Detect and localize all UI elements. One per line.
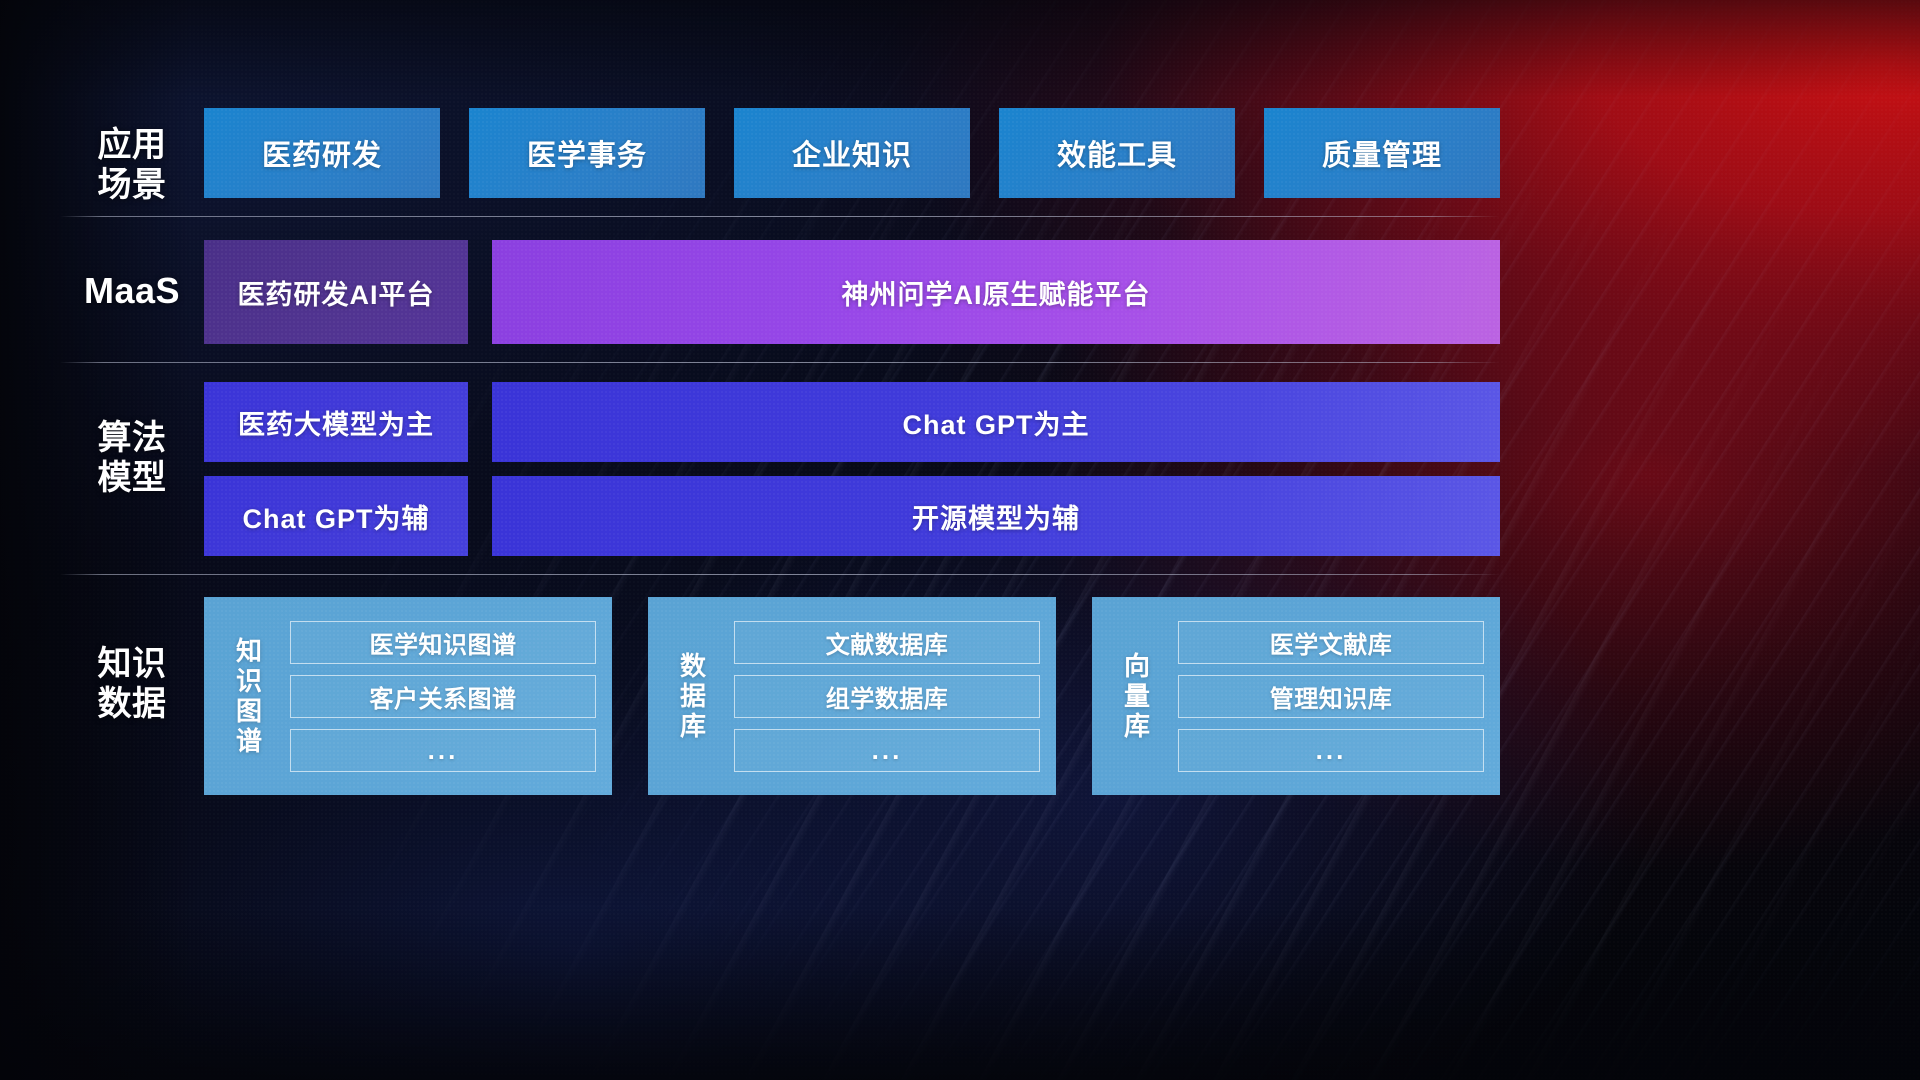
app-tile-label-2: 企业知识 xyxy=(792,132,912,174)
knowledge-group-items-1: 文献数据库 组学数据库 ... xyxy=(734,621,1040,772)
knowledge-group-side-label-1: 数 据 库 xyxy=(670,651,716,741)
divider-maas-algorithm xyxy=(60,362,1500,363)
knowledge-group-items-0: 医学知识图谱 客户关系图谱 ... xyxy=(290,621,596,772)
app-tile-3[interactable]: 效能工具 xyxy=(999,108,1235,198)
row-label-knowledge-data: 知识 数据 xyxy=(72,644,192,724)
knowledge-item-2-0[interactable]: 医学文献库 xyxy=(1178,621,1484,664)
algo-box-opensource-secondary[interactable]: 开源模型为辅 xyxy=(492,476,1500,556)
algo-box-chatgpt-secondary[interactable]: Chat GPT为辅 xyxy=(204,476,468,556)
knowledge-group-items-2: 医学文献库 管理知识库 ... xyxy=(1178,621,1484,772)
app-tile-label-4: 质量管理 xyxy=(1322,132,1442,174)
maas-box-label-1: 神州问学AI原生赋能平台 xyxy=(842,273,1151,312)
knowledge-group-vector-store[interactable]: 向 量 库 医学文献库 管理知识库 ... xyxy=(1092,597,1500,795)
knowledge-group-database[interactable]: 数 据 库 文献数据库 组学数据库 ... xyxy=(648,597,1056,795)
app-tile-label-0: 医药研发 xyxy=(262,132,382,174)
maas-box-medical-ai-platform[interactable]: 医药研发AI平台 xyxy=(204,240,468,344)
app-tile-1[interactable]: 医学事务 xyxy=(469,108,705,198)
knowledge-item-0-2[interactable]: ... xyxy=(290,729,596,772)
divider-algorithm-knowledge xyxy=(60,574,1500,575)
algo-box-label-2: Chat GPT为辅 xyxy=(242,497,429,536)
divider-application-maas xyxy=(60,216,1500,217)
maas-box-label-0: 医药研发AI平台 xyxy=(238,273,435,312)
app-tile-4[interactable]: 质量管理 xyxy=(1264,108,1500,198)
knowledge-item-1-1[interactable]: 组学数据库 xyxy=(734,675,1040,718)
row-label-algorithm-model: 算法 模型 xyxy=(72,418,192,498)
knowledge-group-side-label-2: 向 量 库 xyxy=(1114,651,1160,741)
algo-box-label-1: Chat GPT为主 xyxy=(902,403,1089,442)
knowledge-item-0-0[interactable]: 医学知识图谱 xyxy=(290,621,596,664)
app-tile-2[interactable]: 企业知识 xyxy=(734,108,970,198)
knowledge-item-2-2[interactable]: ... xyxy=(1178,729,1484,772)
knowledge-group-knowledge-graph[interactable]: 知 识 图 谱 医学知识图谱 客户关系图谱 ... xyxy=(204,597,612,795)
knowledge-item-1-0[interactable]: 文献数据库 xyxy=(734,621,1040,664)
knowledge-item-2-1[interactable]: 管理知识库 xyxy=(1178,675,1484,718)
algo-box-label-3: 开源模型为辅 xyxy=(912,497,1080,536)
algo-box-pharma-large-model[interactable]: 医药大模型为主 xyxy=(204,382,468,462)
diagram-stage: 应用 场景 医药研发 医学事务 企业知识 效能工具 质量管理 MaaS 医药研发… xyxy=(0,0,1920,1080)
row-label-maas: MaaS xyxy=(62,270,202,312)
app-tile-label-3: 效能工具 xyxy=(1057,132,1177,174)
knowledge-item-0-1[interactable]: 客户关系图谱 xyxy=(290,675,596,718)
knowledge-item-1-2[interactable]: ... xyxy=(734,729,1040,772)
row-label-application-scenario: 应用 场景 xyxy=(72,125,192,205)
maas-box-shenzhou-platform[interactable]: 神州问学AI原生赋能平台 xyxy=(492,240,1500,344)
app-tile-label-1: 医学事务 xyxy=(527,132,647,174)
algo-box-chatgpt-primary[interactable]: Chat GPT为主 xyxy=(492,382,1500,462)
knowledge-group-side-label-0: 知 识 图 谱 xyxy=(226,636,272,757)
app-tile-0[interactable]: 医药研发 xyxy=(204,108,440,198)
algo-box-label-0: 医药大模型为主 xyxy=(238,403,434,442)
